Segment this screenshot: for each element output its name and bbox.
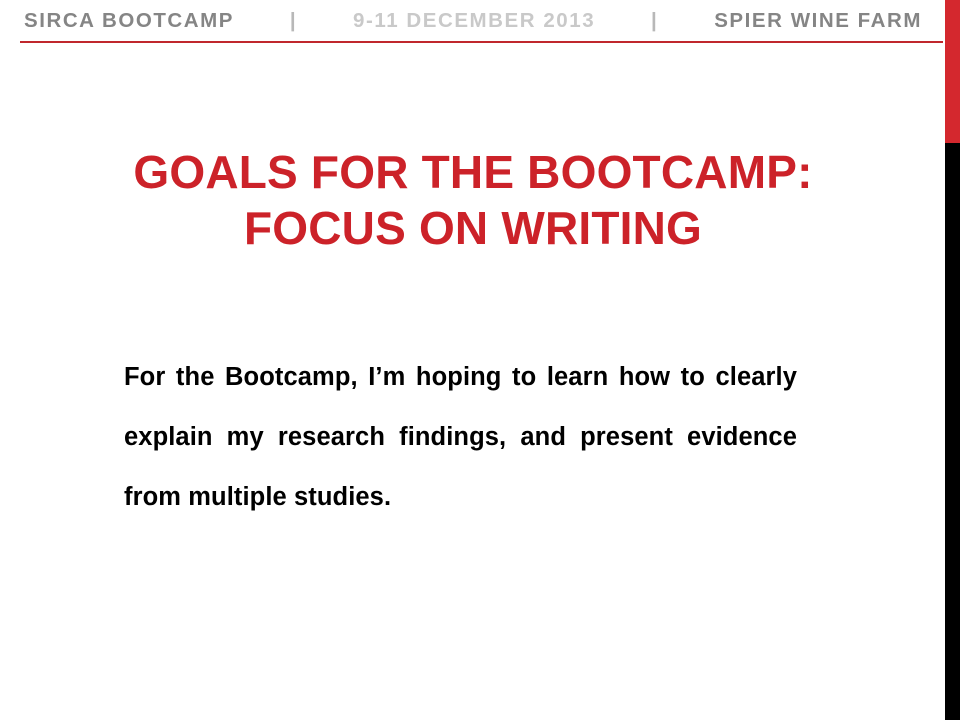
slide-body-paragraph: For the Bootcamp, I’m hoping to learn ho… [124, 347, 797, 527]
header-dates: 9-11 DECEMBER 2013 [353, 11, 595, 32]
slide-body: For the Bootcamp, I’m hoping to learn ho… [124, 347, 797, 527]
right-edge-accent-bar-red [945, 0, 960, 143]
header-divider-rule [20, 41, 943, 43]
header-separator-left: | [287, 11, 300, 32]
header-venue: SPIER WINE FARM [714, 11, 922, 32]
slide-title: Goals for the Bootcamp: Focus on writing [68, 144, 878, 256]
header-event-name: SIRCA BOOTCAMP [24, 11, 234, 32]
slide-header: SIRCA BOOTCAMP | 9-11 DECEMBER 2013 | SP… [24, 6, 922, 36]
right-edge-accent-bar-black [945, 143, 960, 720]
slide: SIRCA BOOTCAMP | 9-11 DECEMBER 2013 | SP… [0, 0, 960, 720]
slide-title-line-1: Goals for the Bootcamp: [68, 144, 878, 200]
header-separator-right: | [648, 11, 661, 32]
slide-title-line-2: Focus on writing [68, 200, 878, 256]
